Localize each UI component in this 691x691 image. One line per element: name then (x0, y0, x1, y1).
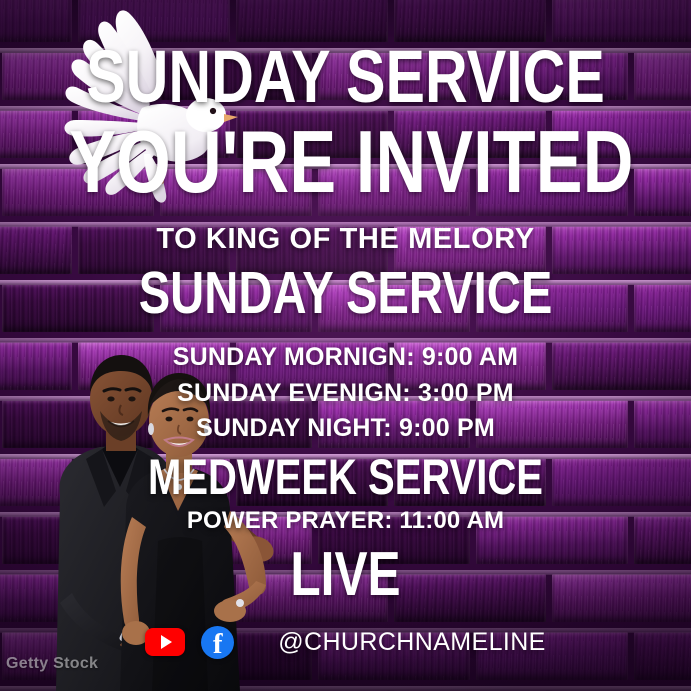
live-label: LIVE (69, 544, 622, 606)
subtitle-church-name: TO KING OF THE MELORY (0, 225, 691, 254)
heading-sunday-service-section: SUNDAY SERVICE (69, 264, 622, 323)
service-time-power-prayer: POWER PRAYER: 11:00 AM (0, 509, 691, 533)
social-media-row: f @CHURCHNAMELINE (0, 620, 691, 664)
service-time-sunday-morning: SUNDAY MORNIGN: 9:00 AM (0, 345, 691, 370)
heading-midweek-service: MEDWEEK SERVICE (69, 452, 622, 502)
youtube-icon[interactable] (145, 628, 185, 656)
service-time-sunday-evening: SUNDAY EVENIGN: 3:00 PM (0, 381, 691, 406)
facebook-f-glyph: f (201, 630, 234, 659)
facebook-icon[interactable]: f (201, 626, 234, 659)
play-triangle-icon (161, 635, 172, 649)
stock-watermark: Getty Stock (6, 655, 98, 673)
poster-canvas: SUNDAY SERVICE YOU'RE INVITED TO KING OF… (0, 0, 691, 691)
service-time-sunday-night: SUNDAY NIGHT: 9:00 PM (0, 416, 691, 441)
heading-youre-invited: YOU'RE INVITED (69, 118, 622, 206)
social-handle: @CHURCHNAMELINE (278, 628, 546, 657)
heading-sunday-service-top: SUNDAY SERVICE (69, 40, 622, 114)
